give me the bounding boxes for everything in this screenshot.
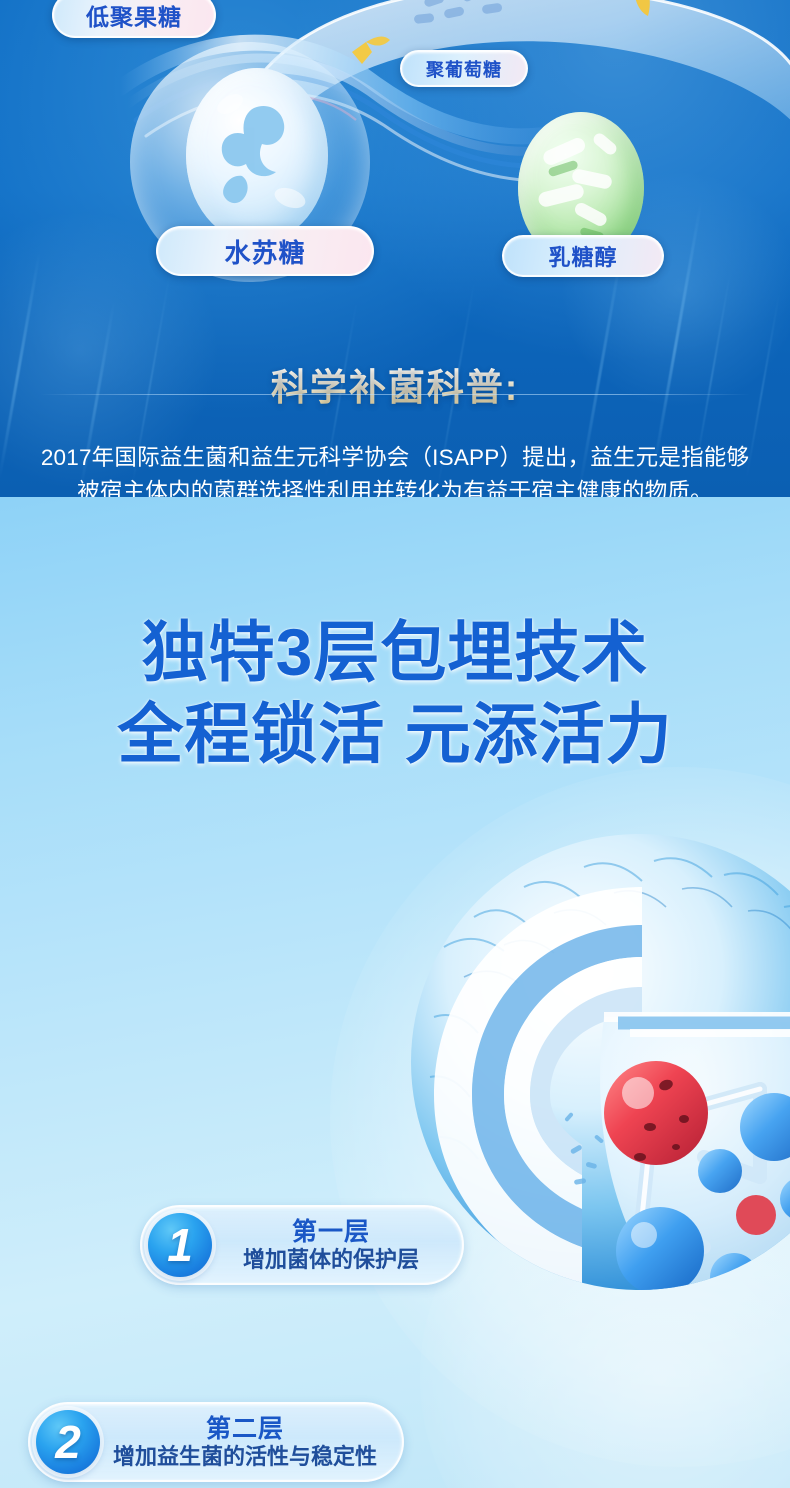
pill-label: 乳糖醇 (548, 240, 617, 272)
pill-label: 聚葡萄糖 (426, 56, 502, 82)
pill-polydextrose[interactable]: 聚葡萄糖 (400, 50, 528, 87)
layer-subtitle-1: 增加菌体的保护层 (214, 1248, 448, 1271)
pill-fructooligosaccharide[interactable]: 低聚果糖 (52, 0, 216, 38)
layer-row-2[interactable]: 2 第二层 增加益生菌的活性与稳定性 (28, 1402, 404, 1482)
layer-title-1: 第一层 (214, 1219, 448, 1246)
pill-stachyose[interactable]: 水苏糖 (156, 226, 374, 276)
molecule-ribbon-illustration (0, 0, 790, 310)
headline-line-1: 独特3层包埋技术 (142, 615, 649, 689)
encapsulation-headline: 独特3层包埋技术 全程锁活 元添活力 (0, 611, 790, 775)
encapsulation-technology-section: 独特3层包埋技术 全程锁活 元添活力 (0, 497, 790, 1488)
prebiotics-ingredients-section: 低聚果糖 聚葡萄糖 水苏糖 乳糖醇 科学补菌科普: 2017年国际益生菌和益生元… (0, 0, 790, 497)
layer-badge-2: 2 (36, 1410, 100, 1474)
layer-text-1: 第一层 增加菌体的保护层 (212, 1219, 462, 1271)
stachyose-bubble-inner (186, 68, 328, 243)
layer-row-1[interactable]: 1 第一层 增加菌体的保护层 (140, 1205, 464, 1285)
pill-label: 水苏糖 (224, 233, 305, 270)
section-divider (40, 394, 750, 395)
product-detail-page: 低聚果糖 聚葡萄糖 水苏糖 乳糖醇 科学补菌科普: 2017年国际益生菌和益生元… (0, 0, 790, 1488)
pill-label: 低聚果糖 (86, 0, 182, 32)
science-section-body: 2017年国际益生菌和益生元科学协会（ISAPP）提出，益生元是指能够被宿主体内… (40, 441, 750, 498)
layer-title-2: 第二层 (102, 1416, 388, 1443)
science-section-title: 科学补菌科普: (0, 357, 790, 411)
layer-text-2: 第二层 增加益生菌的活性与稳定性 (100, 1416, 402, 1468)
headline-line-2: 全程锁活 元添活力 (117, 697, 672, 771)
layer-badge-1: 1 (148, 1213, 212, 1277)
layer-subtitle-2: 增加益生菌的活性与稳定性 (102, 1445, 388, 1468)
pill-lactitol[interactable]: 乳糖醇 (502, 235, 664, 277)
